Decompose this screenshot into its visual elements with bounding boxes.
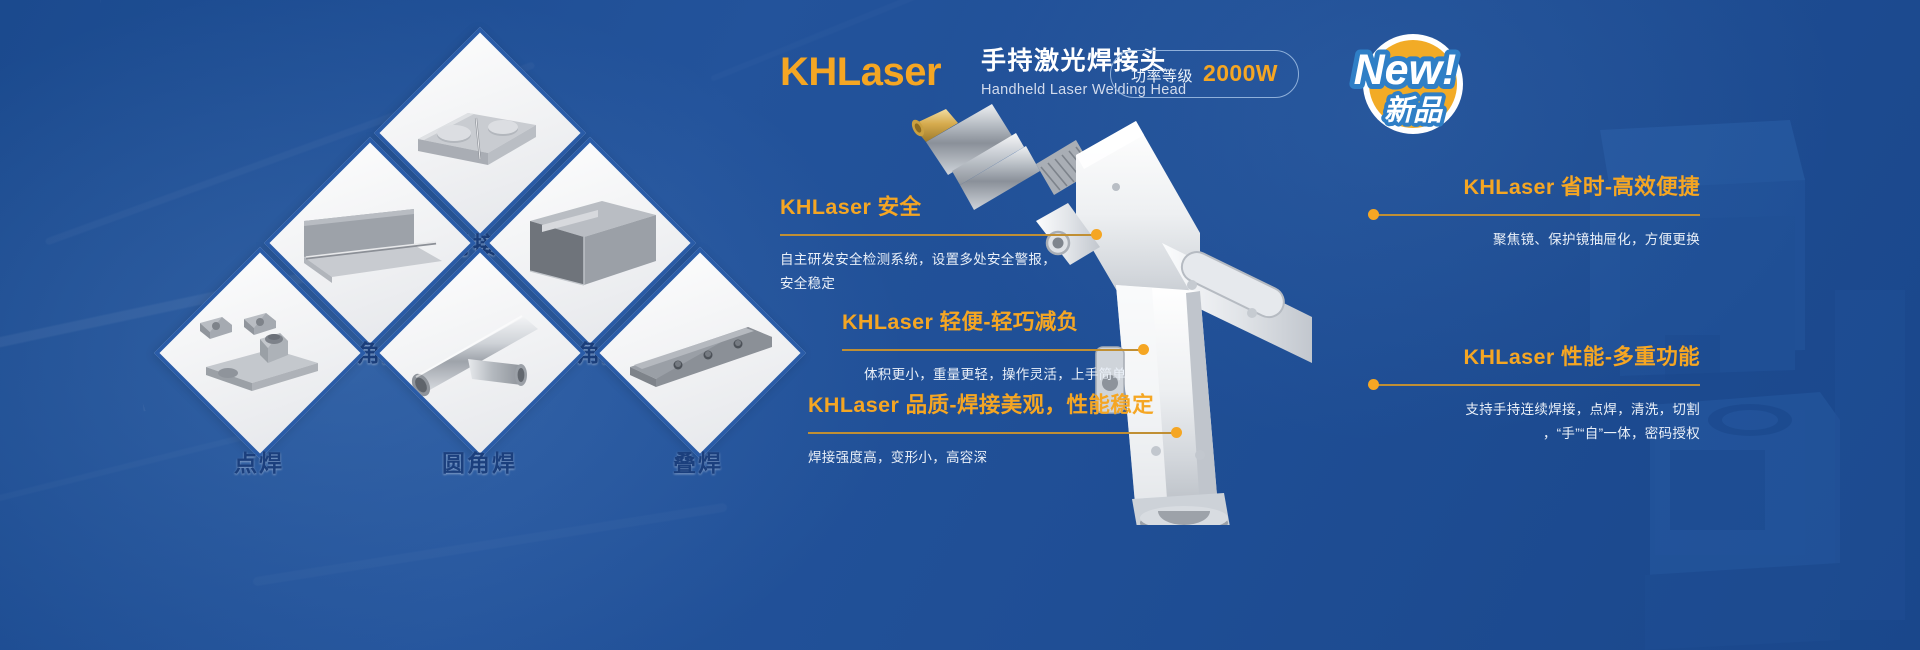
feature-rule-line-1 xyxy=(1370,214,1700,216)
power-rating-label: 功率等级 xyxy=(1131,65,1193,86)
feature-desc-0: 自主研发安全检测系统，设置多处安全警报， 安全稳定 xyxy=(780,248,1100,295)
feature-title-2: KHLaser 轻便-轻巧减负 xyxy=(842,305,1147,336)
feature-block-0: KHLaser 安全 自主研发安全检测系统，设置多处安全警报， 安全稳定 xyxy=(780,190,1100,295)
feature-desc-3: 支持手持连续焊接，点焊，清洗，切割 ，“手”“自”一体，密码授权 xyxy=(1370,398,1700,445)
khlaser-logo: KHLaser xyxy=(780,38,941,92)
feature-desc-2: 体积更小，重量更轻，操作灵活，上手简单 xyxy=(842,363,1147,387)
welding-type-label-3: 点焊 xyxy=(234,444,284,478)
feature-rule-dot-4 xyxy=(1171,427,1182,438)
feature-block-2: KHLaser 轻便-轻巧减负 体积更小，重量更轻，操作灵活，上手简单 xyxy=(842,305,1147,387)
feature-desc-1: 聚焦镜、保护镜抽屉化，方便更换 xyxy=(1370,228,1700,252)
feature-rule-4 xyxy=(808,426,1180,440)
feature-rule-2 xyxy=(842,343,1147,357)
feature-title-1: KHLaser 省时-高效便捷 xyxy=(1370,170,1700,201)
feature-title-0: KHLaser 安全 xyxy=(780,190,1100,221)
feature-rule-line-0 xyxy=(780,234,1100,236)
power-rating-badge: 功率等级 2000W xyxy=(1110,50,1299,98)
feature-block-1: KHLaser 省时-高效便捷 聚焦镜、保护镜抽屉化，方便更换 xyxy=(1370,170,1700,252)
welding-type-label-5: 叠焊 xyxy=(673,444,723,478)
feature-block-3: KHLaser 性能-多重功能 支持手持连续焊接，点焊，清洗，切割 ，“手”“自… xyxy=(1370,340,1700,445)
feature-rule-dot-3 xyxy=(1368,379,1379,390)
promo-banner: 对接焊 阴角焊 xyxy=(0,0,1920,650)
product-info-panel: KHLaser 手持激光焊接头 Handheld Laser Welding H… xyxy=(780,0,1920,650)
feature-title-3: KHLaser 性能-多重功能 xyxy=(1370,340,1700,371)
feature-title-4: KHLaser 品质-焊接美观，性能稳定 xyxy=(808,388,1180,419)
welding-types-diamond-grid: 对接焊 阴角焊 xyxy=(170,38,790,538)
feature-rule-dot-0 xyxy=(1091,229,1102,240)
feature-rule-dot-2 xyxy=(1138,344,1149,355)
feature-rule-dot-1 xyxy=(1368,209,1379,220)
feature-rule-1 xyxy=(1370,208,1700,222)
feature-rule-line-2 xyxy=(842,349,1147,351)
feature-rule-line-4 xyxy=(808,432,1180,434)
feature-rule-0 xyxy=(780,228,1100,242)
feature-rule-line-3 xyxy=(1370,384,1700,386)
new-badge-text-en: New! xyxy=(1354,46,1457,94)
welding-type-label-4: 圆角焊 xyxy=(442,444,517,478)
feature-desc-4: 焊接强度高，变形小，高容深 xyxy=(808,446,1180,470)
feature-rule-3 xyxy=(1370,378,1700,392)
power-rating-value: 2000W xyxy=(1203,60,1278,87)
feature-block-4: KHLaser 品质-焊接美观，性能稳定 焊接强度高，变形小，高容深 xyxy=(808,388,1180,470)
